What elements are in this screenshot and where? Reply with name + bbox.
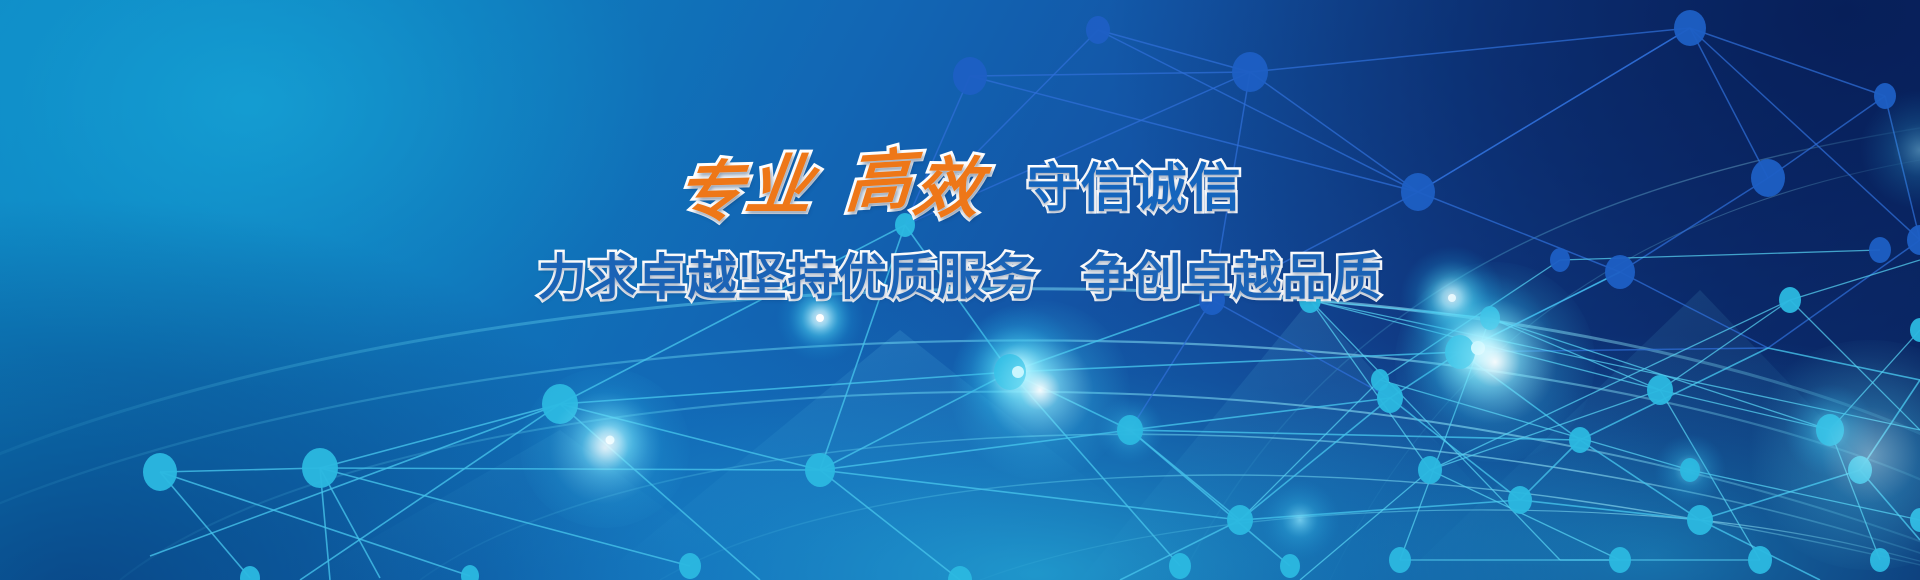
network-constellation-graphic bbox=[0, 0, 1920, 580]
hero-banner: 专业高效 守信诚信 力求卓越坚持优质服务 争创卓越品质 bbox=[0, 0, 1920, 580]
